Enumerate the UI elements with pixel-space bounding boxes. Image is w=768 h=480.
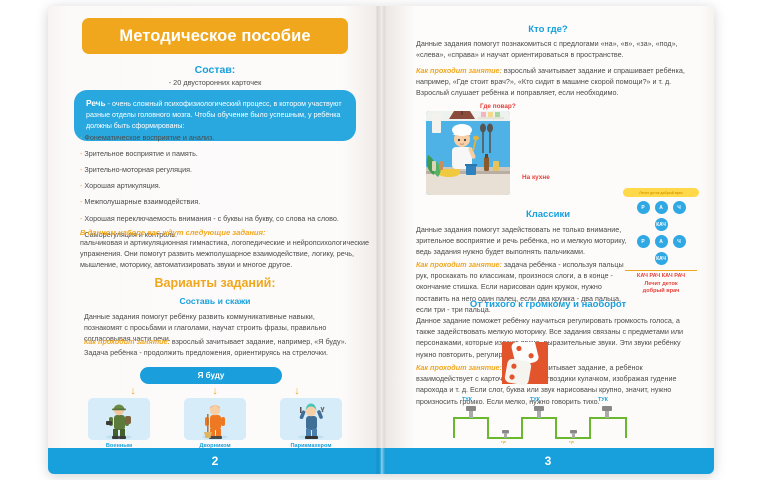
hopscotch-circle: КАЧ [655,218,668,231]
hopscotch-circle: А [655,235,668,248]
hopscotch-rhyme-line3: добрый врач [614,288,708,296]
tuk-loud-label: ТУК [598,397,608,403]
howto-lead: Как проходит занятие: [416,66,502,75]
list-item: Зрительное восприятие и память. [80,150,370,158]
cook-in-kitchen-illustration [426,111,510,195]
arrow-row: ↓ ↓ ↓ [94,384,334,398]
howto-lead: Как проходит занятие: [84,337,170,346]
left-page: Методическое пособие Состав: - 20 двусто… [48,6,382,474]
tuk-loud-label: ТУК [530,397,540,403]
screenshot-canvas: Методическое пособие Состав: - 20 двусто… [0,0,768,480]
page-number: 2 [212,454,219,468]
list-item: Хорошая переключаемость внимания - с бук… [80,215,370,223]
klassiki-text: Данные задания помогут задействовать не … [416,224,628,258]
sostav-line: - 20 двусторонних карточек [48,78,382,87]
variants-heading: Варианты заданий: [48,276,382,290]
hopscotch-circle: Ч [673,201,686,214]
arrow-down-icon: ↓ [210,384,220,398]
heading-kto-gde: Кто где? [382,24,714,35]
orange-dice-illustration [500,342,554,392]
hopscotch-row: Р А Ч [614,235,708,248]
speech-text: - очень сложный психофизиологический про… [86,100,342,130]
image-question-label: Где повар? [480,103,516,110]
professions-row: Военным [88,398,342,449]
image-caption: На кухне [522,174,550,181]
hopscotch-row: Р А Ч [614,201,708,214]
hopscotch-row: КАЧ [614,252,708,265]
tuk-quiet-label: тук [569,440,574,444]
right-page-footer: 3 [382,448,714,474]
volume-wave-diagram: ТУК ТУК ТУК тук тук [448,404,648,450]
set-heading: В данном наборе вас ждут следующие задан… [80,228,372,237]
kto-gde-text: Данные задания помогут познакомиться с п… [416,38,684,60]
hopscotch-circle: Р [637,201,650,214]
page-title: Методическое пособие [82,18,348,54]
right-page: Кто где? Данные задания помогут познаком… [382,6,714,474]
howto-lead: Как проходит занятие: [416,260,502,269]
tuk-quiet-label: тук [501,440,506,444]
left-page-footer: 2 [48,448,382,474]
sostav-heading: Состав: [48,64,382,76]
list-item: Зрительно-моторная регуляция. [80,166,370,174]
list-item: Хорошая артикуляция. [80,182,370,190]
speech-lead: Речь [86,98,106,108]
divider [625,270,697,271]
kto-gde-howto: Как проходит занятие: взрослый зачитывае… [416,65,688,99]
howto-lead: Как проходит занятие: [416,363,502,372]
heading-gromkost: От тихого к громкому и наоборот [382,299,714,310]
list-item: Фонематическое восприятие и анализ. [80,134,370,142]
arrow-down-icon: ↓ [128,384,138,398]
profession-card: Парикмахером [280,398,342,449]
page-number: 3 [545,454,552,468]
hopscotch-row: КАЧ [614,218,708,231]
set-text: пальчиковая и артикуляционная гимнастика… [80,238,376,271]
compose-howto: Как проходит занятие: взрослый зачитывае… [84,336,360,358]
hopscotch-circle: Р [637,235,650,248]
hopscotch-circle: Ч [673,235,686,248]
hairdresser-illustration [280,398,342,440]
hopscotch-circle: КАЧ [655,252,668,265]
profession-card: Военным [88,398,150,449]
list-item: Межполушарные взаимодействия. [80,198,370,206]
profession-card: Дворником [184,398,246,449]
tuk-loud-label: ТУК [462,397,472,403]
hopscotch-circle: А [655,201,668,214]
soldier-illustration [88,398,150,440]
hopscotch-rhyme-line2: Лечит деток [614,281,708,289]
street-cleaner-illustration [184,398,246,440]
arrow-down-icon: ↓ [292,384,302,398]
compose-heading: Составь и скажи [48,296,382,306]
ya-budu-pill: Я буду [140,367,282,384]
hopscotch-diagram: Лечит деток добрый врач Р А Ч КАЧ Р А Ч … [614,188,708,296]
hopscotch-banner: Лечит деток добрый врач [623,188,699,197]
hopscotch-rhyme-line1: КАЧ РАЧ КАЧ РАЧ [614,273,708,281]
open-booklet: Методическое пособие Состав: - 20 двусто… [48,6,714,474]
